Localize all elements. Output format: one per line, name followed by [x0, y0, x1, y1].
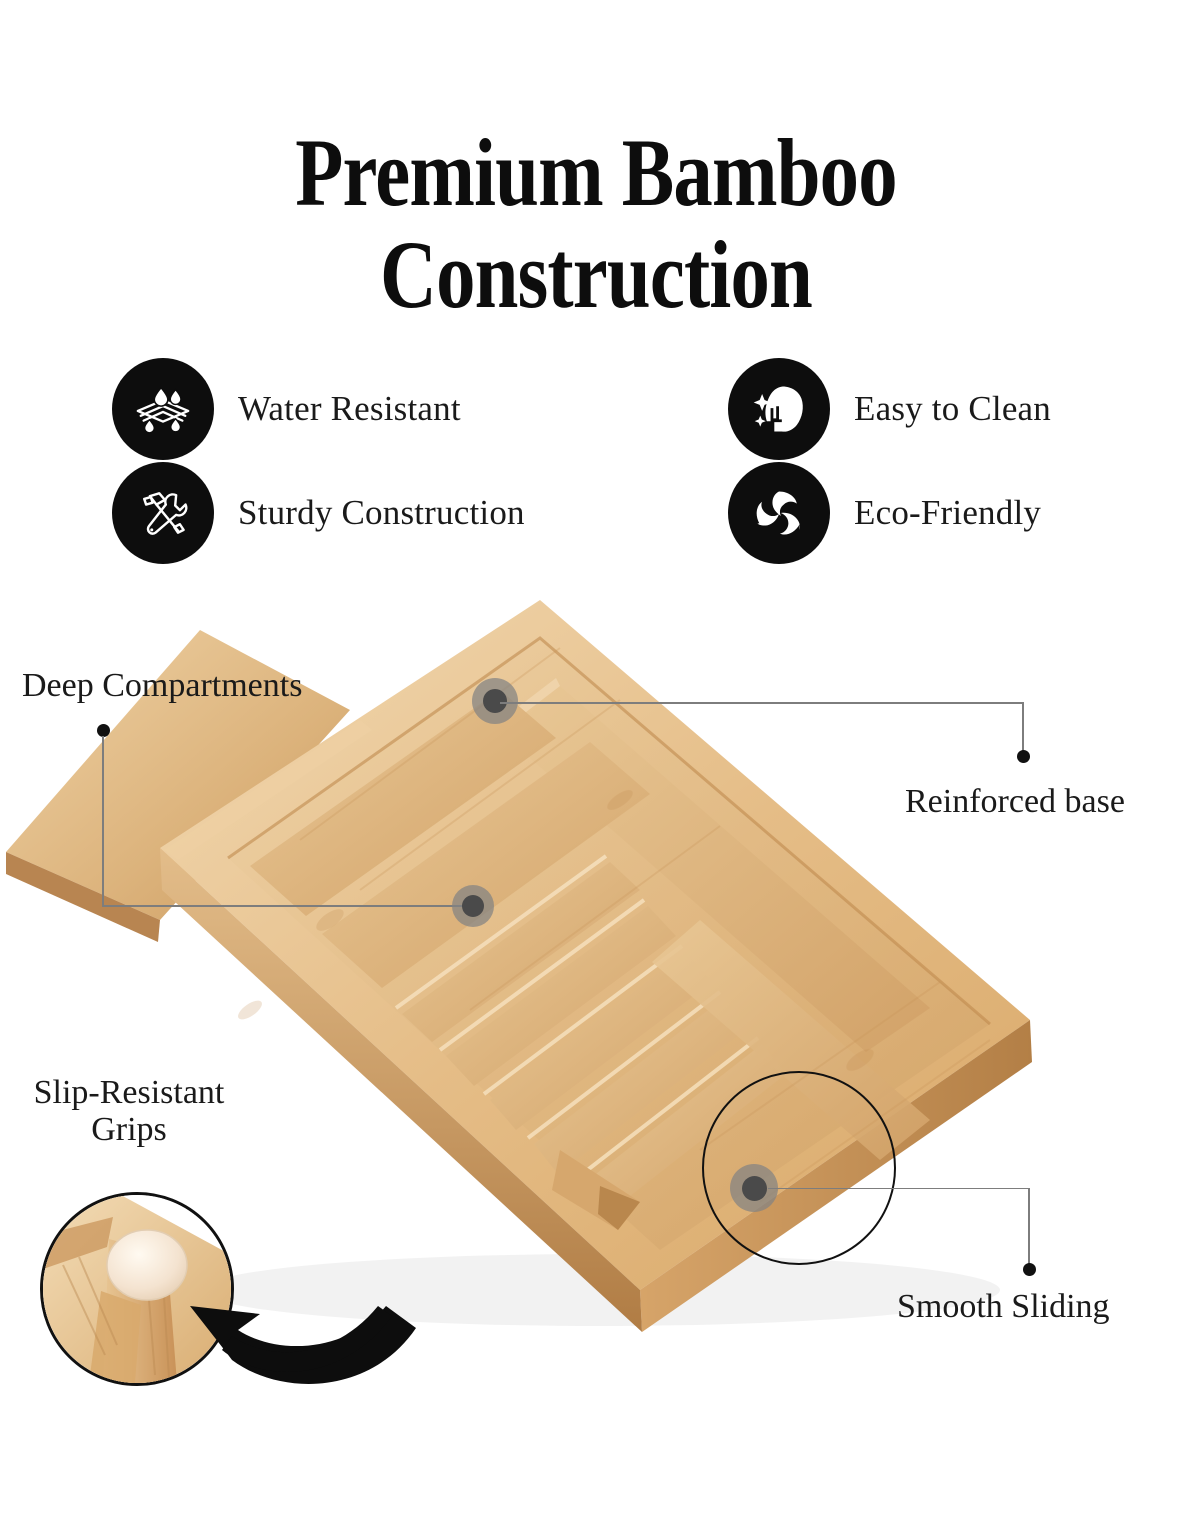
feature-label: Eco-Friendly	[854, 493, 1041, 533]
feature-label: Water Resistant	[238, 389, 461, 429]
feature-item-eco-friendly: Eco-Friendly	[728, 462, 1041, 564]
leader-line-reinforced-horizontal	[500, 702, 1024, 704]
recycling-leaves-icon	[728, 462, 830, 564]
feature-label: Easy to Clean	[854, 389, 1051, 429]
callout-dot-deep-compartments	[97, 724, 110, 737]
title-line-2: Construction	[107, 228, 1084, 322]
hammer-wrench-icon	[112, 462, 214, 564]
marker-core	[483, 689, 507, 713]
feature-item-easy-to-clean: Easy to Clean	[728, 358, 1051, 460]
feature-item-water-resistant: Water Resistant	[112, 358, 461, 460]
callout-dot-reinforced-base	[1017, 750, 1030, 763]
feature-list: Water Resistant Sturdy Construction	[0, 352, 1192, 582]
marker-deep-compartments	[452, 885, 494, 927]
callout-label-line-2: Grips	[91, 1111, 167, 1148]
feature-label: Sturdy Construction	[238, 493, 525, 533]
callout-label-smooth-sliding: Smooth Sliding	[897, 1288, 1110, 1326]
leader-line-deep-horizontal	[102, 905, 474, 907]
leader-line-smooth-horizontal	[768, 1188, 1030, 1189]
sparkle-wiping-hand-icon	[728, 358, 830, 460]
marker-core	[462, 895, 484, 917]
leader-line-reinforced-vertical	[1022, 702, 1024, 754]
callout-label-reinforced-base: Reinforced base	[905, 783, 1125, 821]
marker-core	[742, 1176, 767, 1201]
feature-item-sturdy-construction: Sturdy Construction	[112, 462, 525, 564]
callout-label-deep-compartments: Deep Compartments	[22, 667, 302, 705]
water-drops-on-wood-icon	[112, 358, 214, 460]
callout-dot-smooth-sliding	[1023, 1263, 1036, 1276]
title-line-1: Premium Bamboo	[107, 126, 1084, 220]
leader-line-smooth-vertical	[1028, 1188, 1030, 1268]
page-title: Premium Bamboo Construction	[0, 126, 1192, 322]
infographic-canvas: Premium Bamboo Construction Water Resist…	[0, 0, 1192, 1536]
callout-label-line-1: Slip-Resistant	[34, 1074, 225, 1111]
marker-reinforced-base	[472, 678, 518, 724]
callout-label-slip-resistant-grips: Slip-Resistant Grips	[0, 1075, 258, 1148]
curved-arrow-icon	[160, 1240, 460, 1445]
zoom-circle-smooth-sliding	[702, 1071, 896, 1265]
leader-line-deep-vertical	[102, 736, 104, 906]
